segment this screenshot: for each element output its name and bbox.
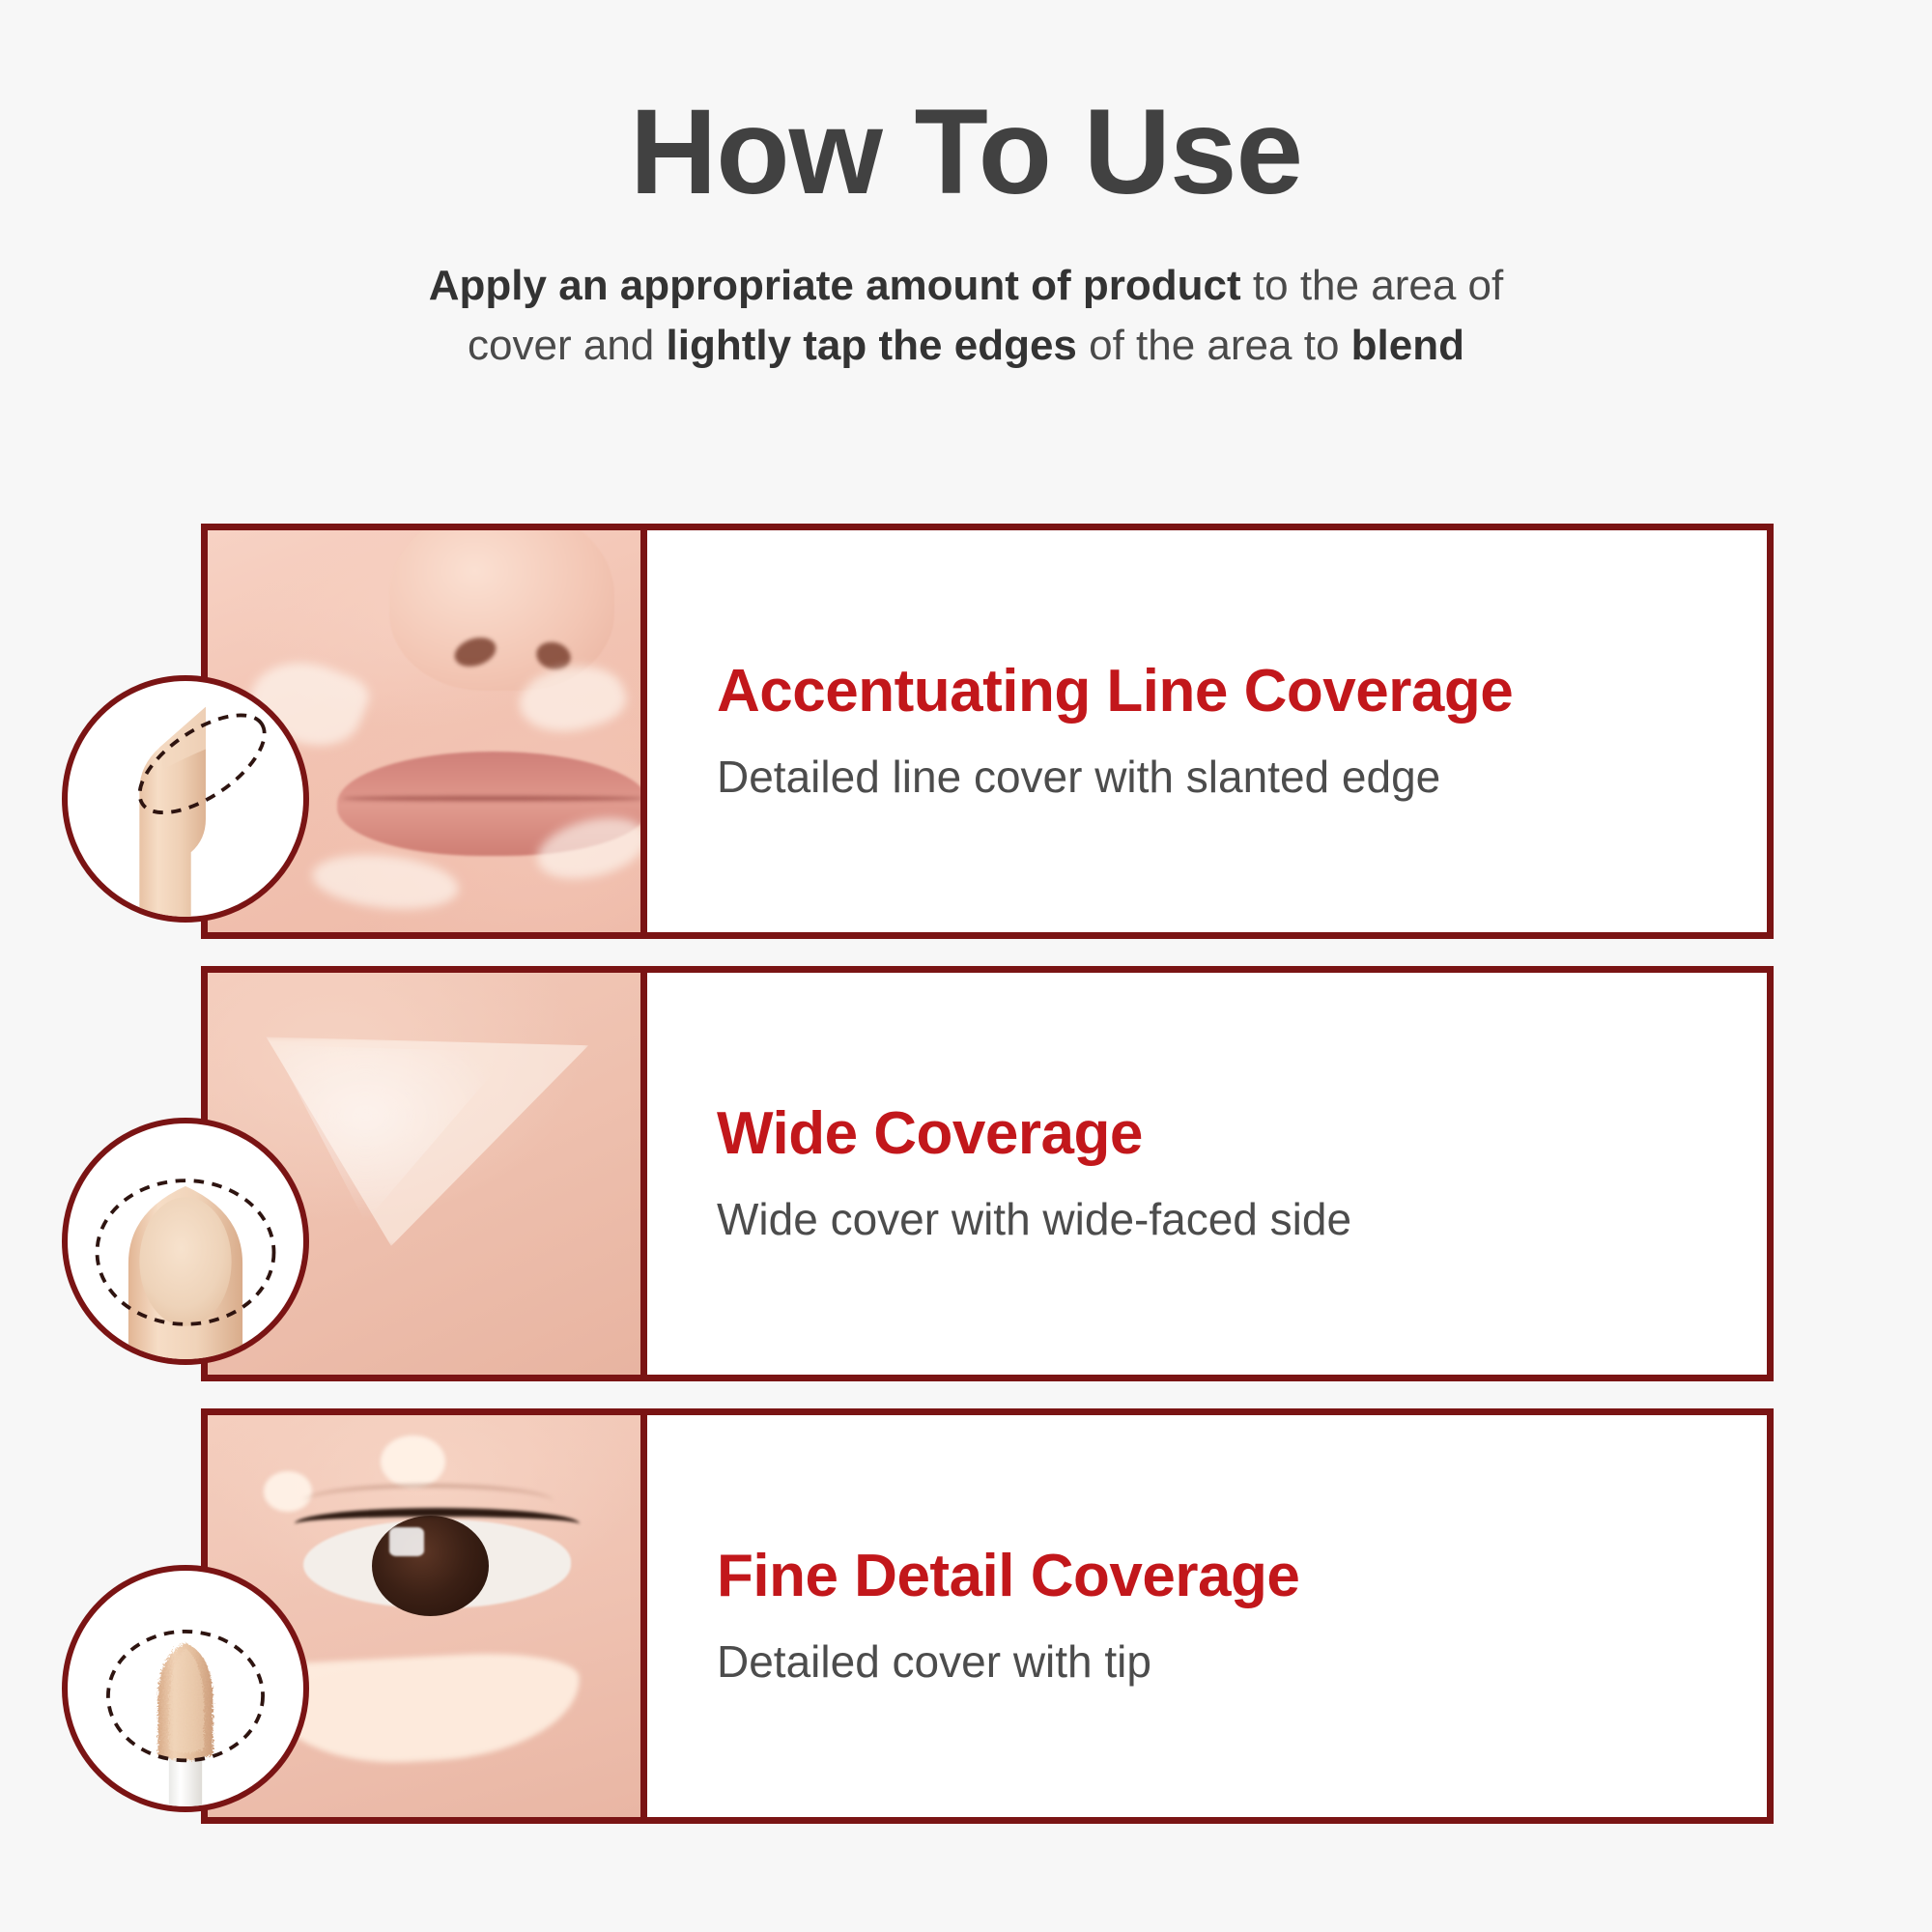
coverage-card-wide: Wide Coverage Wide cover with wide-faced… (201, 966, 1774, 1381)
card-text-accentuating-line: Accentuating Line Coverage Detailed line… (647, 530, 1767, 932)
under-eye-concealer-crescent (266, 1648, 582, 1769)
coverage-card-accentuating-line: Accentuating Line Coverage Detailed line… (201, 524, 1774, 939)
subtitle-text-1: to the area of (1241, 262, 1504, 309)
subtitle-emphasis-2: lightly tap the edges (667, 322, 1077, 369)
concealer-swatch-lower-left (309, 848, 461, 916)
subtitle-line-1: Apply an appropriate amount of product t… (0, 256, 1932, 316)
doe-foot-applicator-tip-icon (68, 1571, 303, 1806)
concealer-stick-slanted-tip-icon (68, 681, 303, 917)
card-text-wide: Wide Coverage Wide cover with wide-faced… (647, 973, 1767, 1375)
badge-concealer-stick-slanted-tip (62, 675, 309, 923)
coverage-card-list: Accentuating Line Coverage Detailed line… (201, 524, 1774, 1824)
badge-concealer-stick-wide-face (62, 1118, 309, 1365)
subtitle-text-3: of the area to (1077, 322, 1351, 369)
card-title: Wide Coverage (717, 1101, 1728, 1167)
subtitle-emphasis-1: Apply an appropriate amount of product (429, 262, 1241, 309)
subtitle-text-2: cover and (468, 322, 666, 369)
concealer-dot-large (381, 1435, 445, 1488)
page-title: How To Use (0, 89, 1932, 217)
card-text-fine-detail: Fine Detail Coverage Detailed cover with… (647, 1415, 1767, 1817)
upper-eyelashes (295, 1508, 581, 1540)
card-title: Accentuating Line Coverage (717, 659, 1728, 724)
concealer-stick-wide-face-icon (68, 1123, 303, 1359)
page-subtitle: Apply an appropriate amount of product t… (0, 256, 1932, 377)
card-title: Fine Detail Coverage (717, 1544, 1728, 1609)
badge-doe-foot-applicator (62, 1565, 309, 1812)
subtitle-line-2: cover and lightly tap the edges of the a… (0, 316, 1932, 376)
page-header: How To Use Apply an appropriate amount o… (0, 0, 1932, 376)
card-description: Detailed line cover with slanted edge (717, 751, 1728, 804)
card-description: Wide cover with wide-faced side (717, 1193, 1728, 1246)
coverage-card-fine-detail: Fine Detail Coverage Detailed cover with… (201, 1408, 1774, 1824)
subtitle-emphasis-3: blend (1351, 322, 1464, 369)
card-description: Detailed cover with tip (717, 1635, 1728, 1689)
lip-center-line (342, 796, 645, 801)
